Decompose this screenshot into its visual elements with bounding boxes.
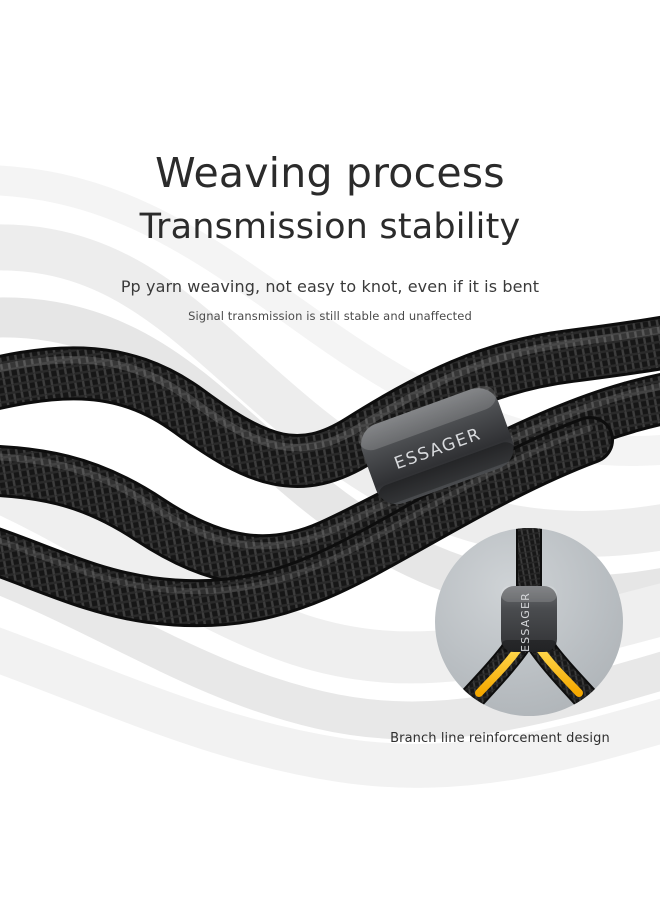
inset-caption: Branch line reinforcement design [370, 731, 630, 746]
inset-illustration: ESSAGER [435, 528, 623, 716]
product-banner: Weaving process Transmission stability P… [0, 0, 660, 900]
inset-connector: ESSAGER [501, 586, 557, 652]
inset-connector-brand-label: ESSAGER [519, 592, 532, 652]
inset-detail-circle: ESSAGER [435, 528, 623, 716]
inset-cable-branches [465, 646, 593, 706]
braided-cable-illustration: ESSAGER [0, 0, 660, 900]
